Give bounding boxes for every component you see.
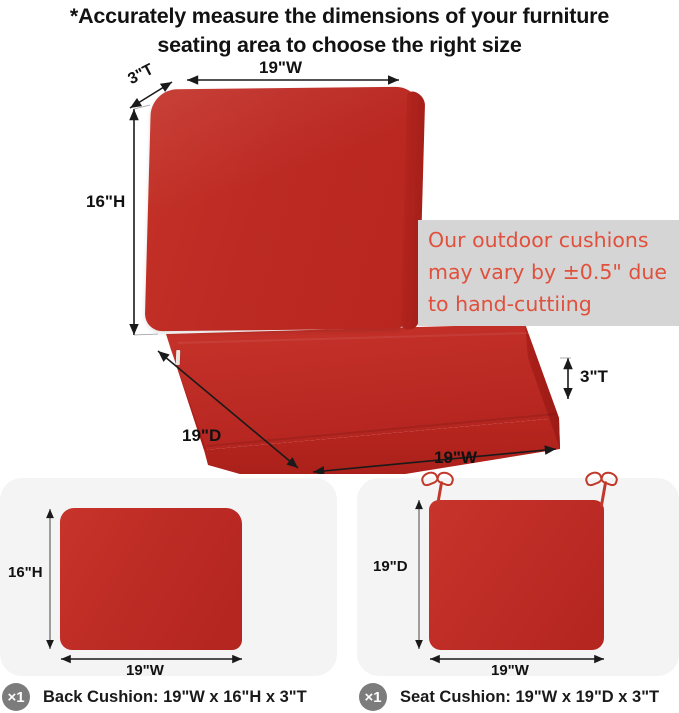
back-panel-dimension-arrows — [0, 478, 337, 676]
dim-label-seat-depth: 19"D — [182, 426, 221, 446]
page-title-line-1: *Accurately measure the dimensions of yo… — [70, 4, 609, 28]
callout-line-3: to hand-cuttiing — [428, 288, 679, 320]
product-dimension-infographic: *Accurately measure the dimensions of yo… — [0, 0, 679, 713]
dim-label-back-width: 19"W — [259, 58, 302, 78]
dim-label-seat-width: 19"W — [434, 448, 477, 468]
page-title-line-2: seating area to choose the right size — [0, 31, 679, 60]
callout-line-2: may vary by ±0.5" due — [428, 256, 679, 288]
dim-label-seat-thickness: 3"T — [580, 367, 608, 387]
seat-panel-dimension-arrows — [357, 478, 679, 676]
dim-arrow-seat-depth — [158, 351, 298, 468]
back-cushion-quantity-badge: ×1 — [2, 683, 30, 711]
tolerance-callout: Our outdoor cushions may vary by ±0.5" d… — [418, 220, 679, 326]
dim-label-seat-panel-depth: 19"D — [373, 558, 408, 575]
dim-label-back-panel-width: 19"W — [126, 662, 164, 679]
back-cushion-caption: ×1 Back Cushion: 19"W x 16"H x 3"T — [2, 682, 307, 712]
page-title: *Accurately measure the dimensions of yo… — [0, 2, 679, 60]
dim-ext-bottom — [134, 334, 158, 335]
dim-ext-top — [134, 105, 150, 109]
hero-cushion-diagram: 3"T 19"W 16"H 19"D 19"W 3"T Our outdoor … — [0, 62, 679, 474]
back-cushion-panel: 16"H 19"W — [0, 478, 337, 676]
back-cushion-caption-text: Back Cushion: 19"W x 16"H x 3"T — [43, 688, 307, 707]
callout-line-1: Our outdoor cushions — [428, 224, 679, 256]
seat-cushion-caption-text: Seat Cushion: 19"W x 19"D x 3"T — [400, 688, 659, 707]
seat-cushion-caption: ×1 Seat Cushion: 19"W x 19"D x 3"T — [359, 682, 659, 712]
dim-label-back-panel-height: 16"H — [8, 564, 43, 581]
dim-label-back-height: 16"H — [86, 192, 125, 212]
seat-cushion-quantity-badge: ×1 — [359, 683, 387, 711]
dim-label-seat-panel-width: 19"W — [491, 662, 529, 679]
seat-cushion-panel: 19"D 19"W — [357, 478, 679, 676]
